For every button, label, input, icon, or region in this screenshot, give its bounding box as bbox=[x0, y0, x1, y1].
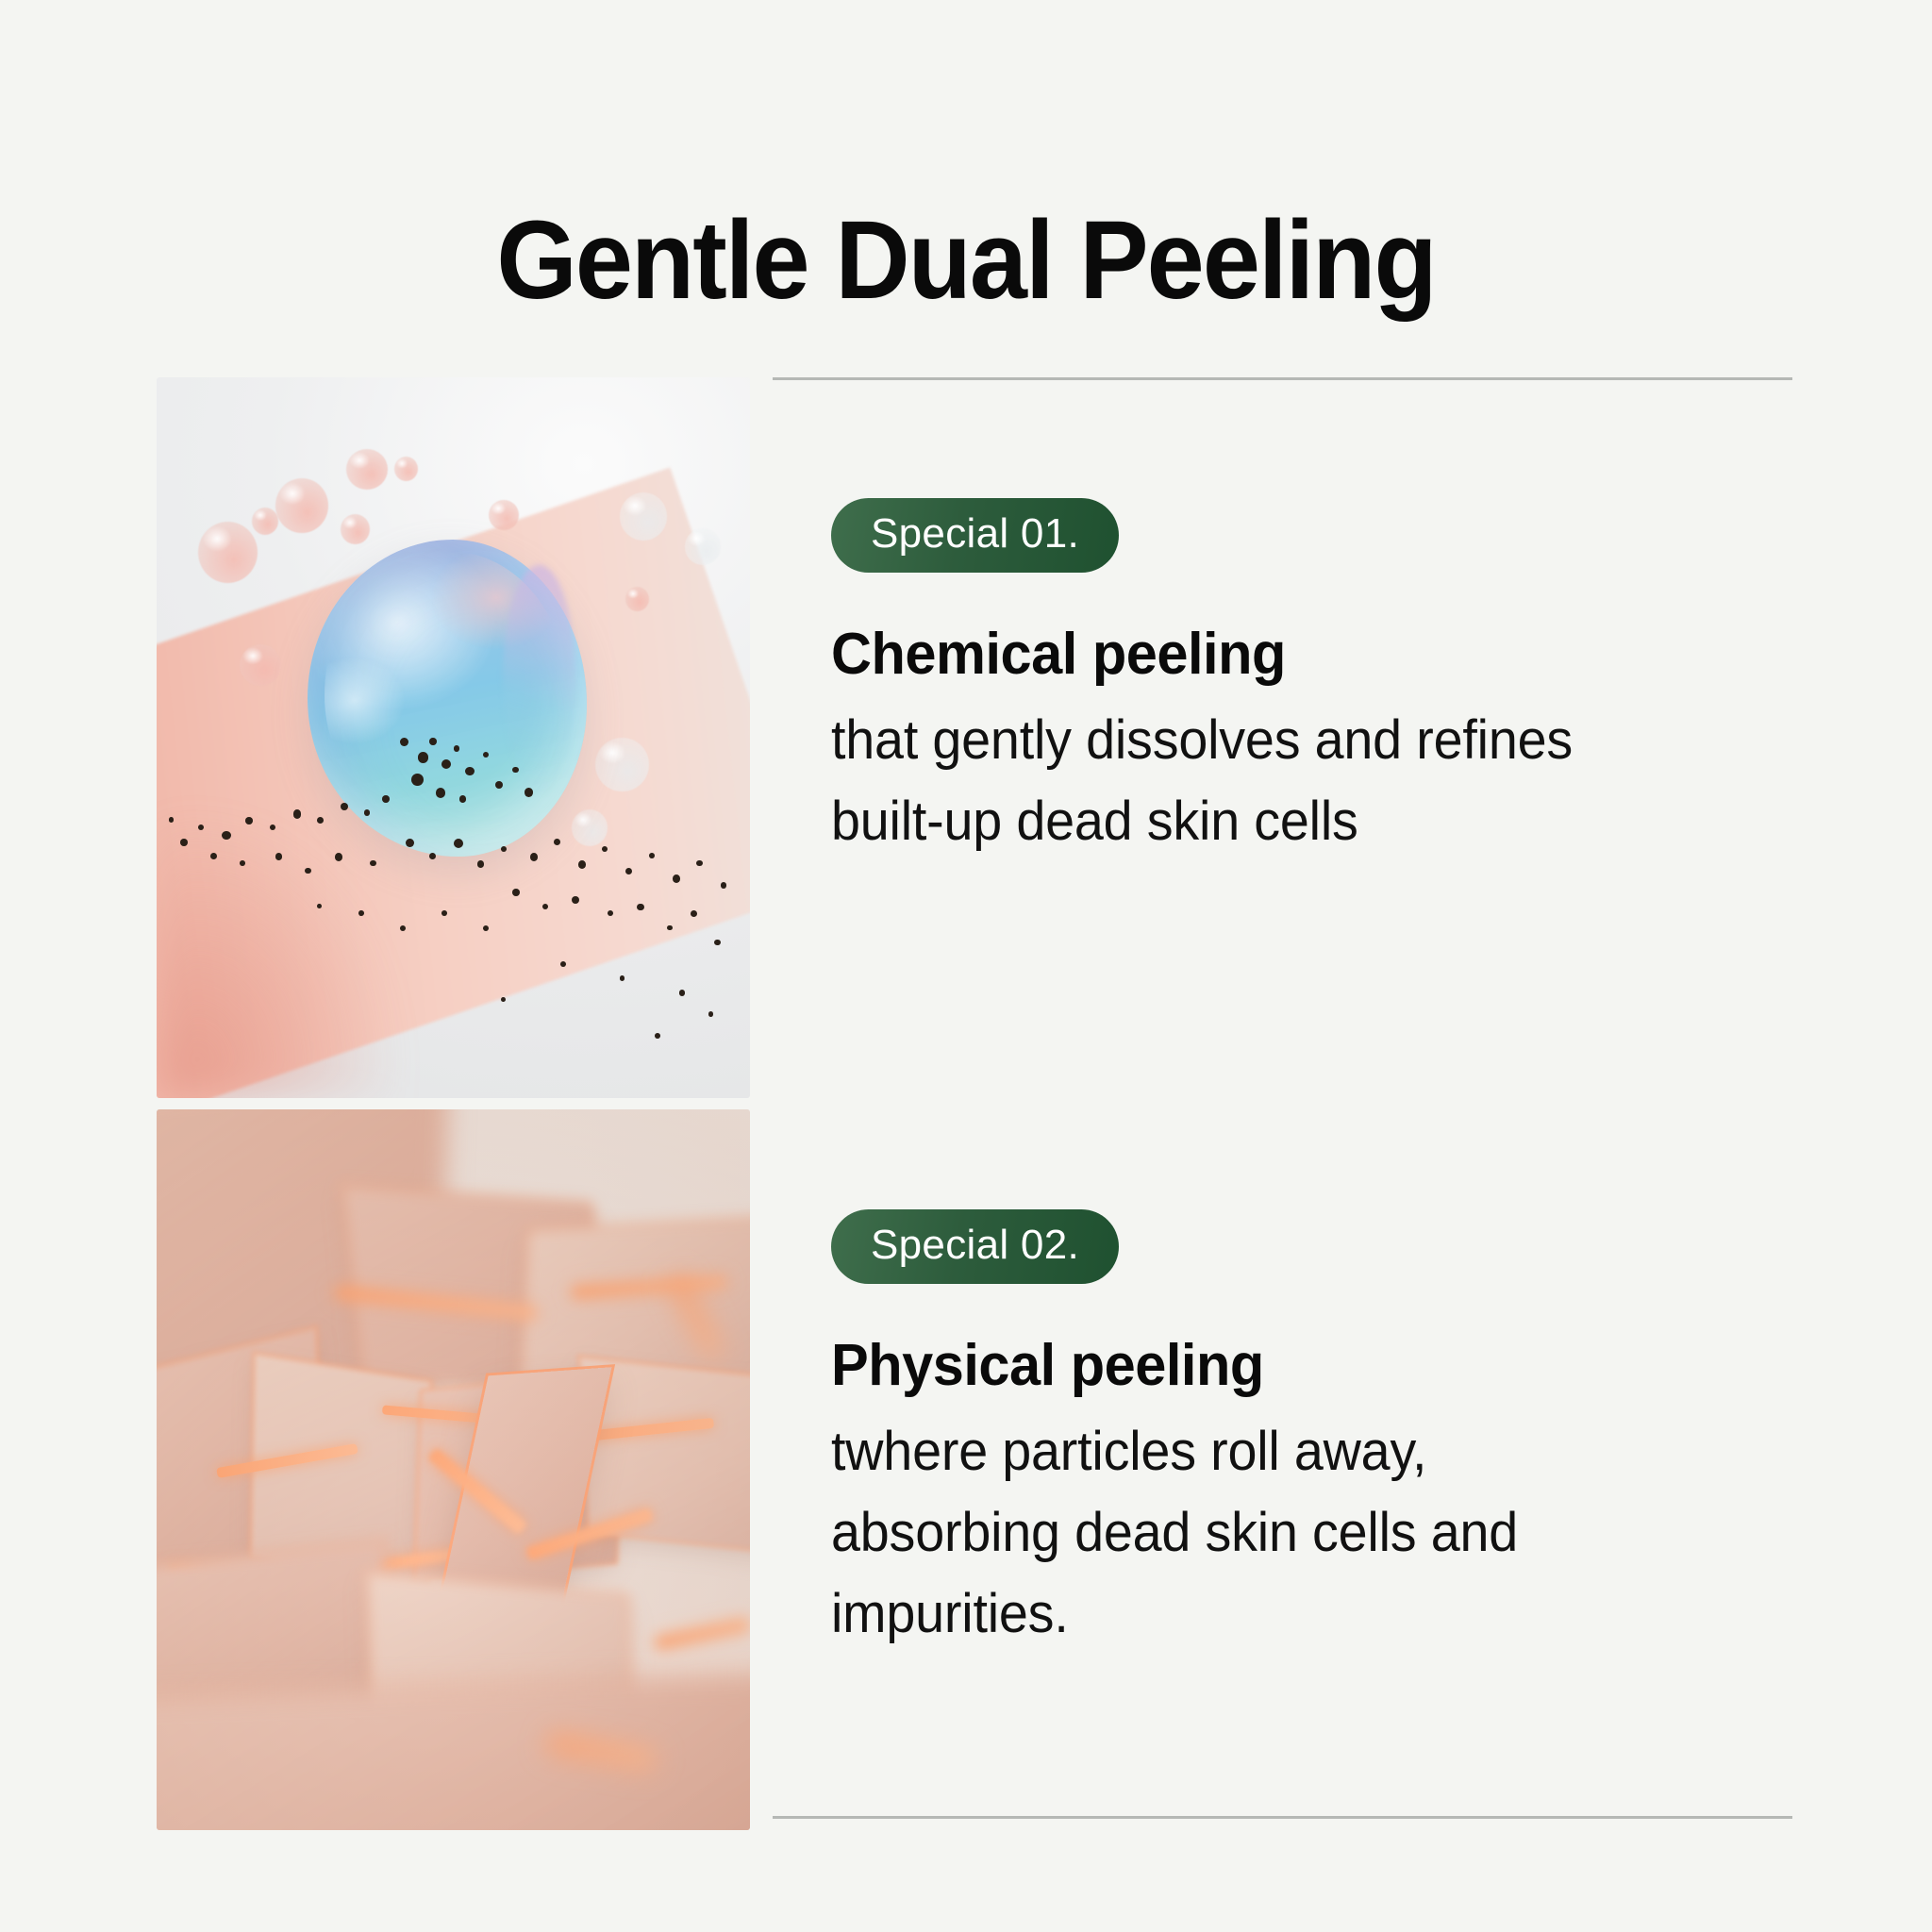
section-body-1: that gently dissolves and refines built-… bbox=[831, 700, 1754, 862]
section-body-2: twhere particles roll away, absorbing de… bbox=[831, 1411, 1754, 1654]
section-image-physical-peeling bbox=[157, 1109, 750, 1830]
page-title: Gentle Dual Peeling bbox=[68, 205, 1865, 316]
bubble-icon bbox=[620, 492, 667, 540]
bubble-icon bbox=[346, 449, 388, 490]
water-droplet-shape bbox=[308, 540, 587, 857]
bubble-icon bbox=[572, 809, 608, 845]
flake-edge-highlight bbox=[216, 1443, 358, 1478]
body-line: built-up dead skin cells bbox=[831, 781, 1754, 862]
flake-edge-highlight bbox=[335, 1286, 537, 1319]
bubble-icon bbox=[275, 478, 329, 533]
bubble-icon bbox=[625, 587, 649, 611]
skin-flake bbox=[580, 1357, 750, 1554]
skin-flake bbox=[521, 1218, 750, 1391]
bubble-icon bbox=[252, 508, 278, 535]
infographic-page: Gentle Dual Peeling bbox=[0, 0, 1932, 1932]
flake-edge-highlight bbox=[572, 1277, 726, 1298]
skin-flake bbox=[157, 1327, 324, 1597]
skin-flake bbox=[415, 1374, 623, 1580]
skin-flake bbox=[342, 1186, 611, 1392]
bubble-icon bbox=[595, 738, 649, 791]
skin-flake-foreground bbox=[438, 1367, 612, 1615]
skin-flake bbox=[157, 1674, 750, 1830]
section-row-1: Special 01. Chemical peeling that gently… bbox=[0, 377, 1932, 1098]
bubble-icon bbox=[685, 528, 721, 564]
flake-edge-highlight bbox=[168, 1565, 323, 1589]
body-line: absorbing dead skin cells and bbox=[831, 1492, 1754, 1574]
flakes-artwork bbox=[157, 1109, 750, 1830]
skin-flake bbox=[251, 1354, 430, 1585]
flake-edge-highlight bbox=[548, 1418, 714, 1445]
section-image-chemical-peeling bbox=[157, 377, 750, 1098]
skin-flake bbox=[157, 1109, 446, 1421]
bubble-icon bbox=[489, 500, 518, 530]
section-copy-2: Special 02. Physical peeling twhere part… bbox=[773, 1098, 1792, 1819]
droplet-artwork bbox=[157, 377, 750, 1098]
sections-container: Special 01. Chemical peeling that gently… bbox=[0, 377, 1932, 1830]
skin-flake bbox=[368, 1574, 634, 1771]
flake-edge-highlight bbox=[382, 1405, 548, 1428]
flake-edge-highlight bbox=[427, 1448, 527, 1536]
bubble-icon bbox=[198, 522, 258, 583]
section-headline-1: Chemical peeling bbox=[831, 622, 1754, 687]
bubble-icon bbox=[341, 514, 370, 544]
body-line: twhere particles roll away, bbox=[831, 1411, 1754, 1492]
bubble-icon bbox=[240, 644, 281, 686]
flake-edge-highlight bbox=[525, 1507, 654, 1560]
flake-edge-highlight bbox=[655, 1619, 750, 1650]
section-row-2: Special 02. Physical peeling twhere part… bbox=[0, 1098, 1932, 1830]
skin-flake bbox=[157, 1541, 385, 1759]
section-divider bbox=[773, 1816, 1792, 1819]
badge-special-01: Special 01. bbox=[831, 498, 1119, 573]
section-divider bbox=[773, 377, 1792, 380]
flake-edge-highlight bbox=[672, 1278, 722, 1357]
section-headline-2: Physical peeling bbox=[831, 1333, 1754, 1398]
flake-edge-highlight bbox=[547, 1735, 656, 1771]
body-line: impurities. bbox=[831, 1574, 1754, 1655]
section-copy-1: Special 01. Chemical peeling that gently… bbox=[773, 377, 1792, 1098]
badge-special-02: Special 02. bbox=[831, 1209, 1119, 1284]
body-line: that gently dissolves and refines bbox=[831, 700, 1754, 781]
bubble-icon bbox=[394, 457, 418, 481]
flake-edge-highlight bbox=[335, 1547, 466, 1576]
